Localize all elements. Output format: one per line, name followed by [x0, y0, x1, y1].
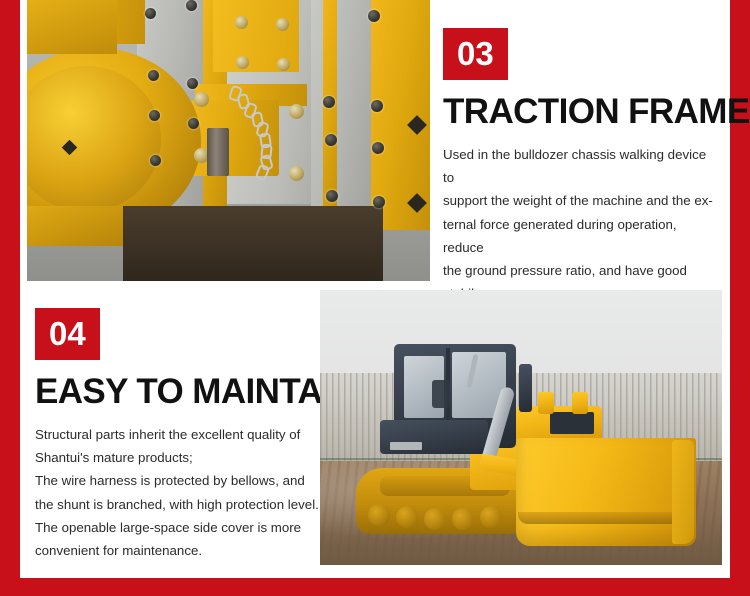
lift-eye-left	[538, 392, 554, 414]
track-roller	[452, 508, 474, 530]
ground-shadow	[123, 206, 383, 281]
body-line: the shunt is branched, with high protect…	[35, 493, 335, 516]
track-roller	[368, 504, 390, 526]
bolt-yellow	[289, 166, 304, 181]
bolt	[187, 78, 198, 89]
track-roller	[480, 506, 502, 528]
lift-eye-right	[572, 392, 588, 414]
section-04-text: 04 EASY TO MAINTAIN Structural parts inh…	[35, 308, 335, 562]
exhaust-stack	[519, 364, 532, 412]
grille-panel	[550, 412, 594, 434]
bolt	[150, 155, 161, 166]
yellow-vertical-rib-b	[323, 0, 337, 220]
bolt	[186, 0, 197, 11]
body-line: The openable large-space side cover is m…	[35, 516, 335, 539]
section-03-title: TRACTION FRAME	[443, 94, 718, 131]
dozer-blade	[516, 438, 696, 546]
bolt	[323, 96, 335, 108]
yellow-upper-casing	[27, 0, 117, 54]
track-roller	[396, 506, 418, 528]
bolt-yellow	[235, 16, 248, 29]
section-04-badge: 04	[35, 308, 100, 360]
section-03-text: 03 TRACTION FRAME Used in the bulldozer …	[443, 28, 718, 329]
body-line: ternal force generated during operation,…	[443, 213, 718, 260]
body-line: Used in the bulldozer chassis walking de…	[443, 143, 718, 190]
bolt-yellow	[277, 58, 290, 71]
operator-seat	[432, 380, 450, 408]
bolt-yellow	[276, 18, 289, 31]
section-03-badge: 03	[443, 28, 508, 80]
body-line: The wire harness is protected by bellows…	[35, 469, 335, 492]
section-04-body: Structural parts inherit the excellent q…	[35, 423, 335, 563]
blade-cutting-edge	[518, 512, 694, 524]
traction-frame-photo	[27, 0, 430, 281]
bolt	[368, 10, 380, 22]
bolt	[145, 8, 156, 19]
body-line: convenient for maintenance.	[35, 539, 335, 562]
bolt	[326, 190, 338, 202]
plate-right	[311, 0, 377, 222]
locking-pin	[207, 128, 229, 176]
bolt	[373, 196, 385, 208]
body-line: Structural parts inherit the excellent q…	[35, 423, 335, 446]
bolt	[325, 134, 337, 146]
bolt	[148, 70, 159, 81]
blade-end-bit	[672, 440, 694, 544]
frame-border-left	[0, 0, 20, 596]
bolt	[149, 110, 160, 121]
product-feature-page: 03 TRACTION FRAME Used in the bulldozer …	[0, 0, 750, 596]
bolt-yellow	[194, 92, 209, 107]
bolt	[188, 118, 199, 129]
body-line: support the weight of the machine and th…	[443, 189, 718, 212]
bolt	[371, 100, 383, 112]
bulldozer-photo	[320, 290, 722, 565]
frame-border-bottom	[0, 578, 750, 596]
bolt	[372, 142, 384, 154]
bolt-yellow	[236, 56, 249, 69]
frame-border-right	[730, 0, 750, 596]
body-line: Shantui's mature products;	[35, 446, 335, 469]
model-decal	[390, 442, 422, 450]
bolt-yellow	[289, 104, 304, 119]
track-roller	[424, 508, 446, 530]
section-04-title: EASY TO MAINTAIN	[35, 374, 335, 411]
